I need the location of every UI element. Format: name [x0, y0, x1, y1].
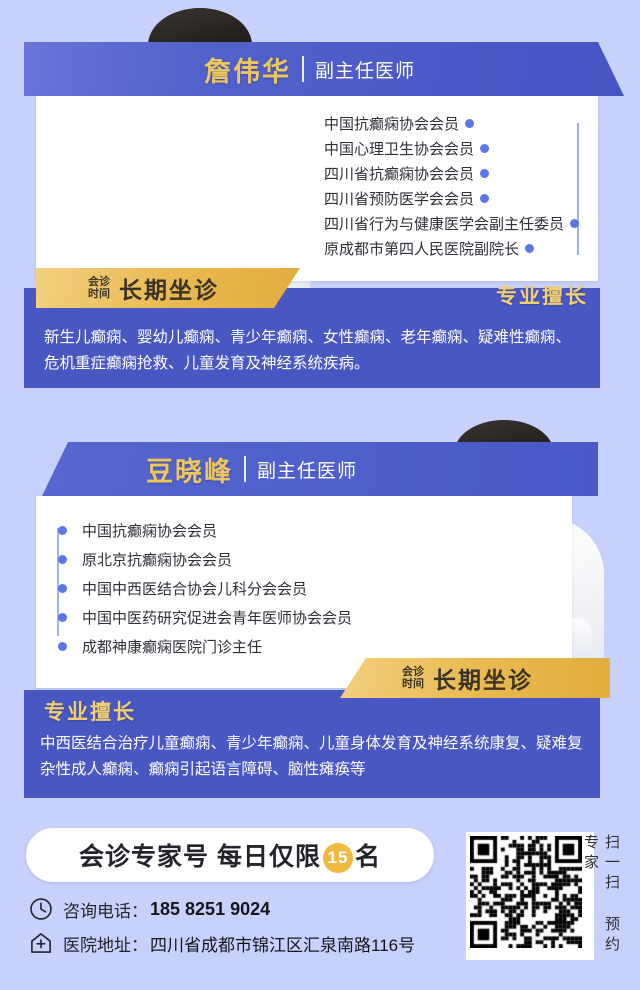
- hospital-icon: [28, 930, 54, 956]
- schedule-value: 长期坐诊: [433, 661, 533, 695]
- schedule-label: 会诊 时间: [88, 276, 110, 300]
- credential-text: 四川省行为与健康医学会副主任委员: [324, 213, 564, 234]
- credential-text: 四川省抗癫痫协会会员: [324, 163, 474, 184]
- clock-icon: [28, 896, 54, 922]
- address-label: 医院地址：: [63, 931, 148, 956]
- doctor-1-title: 副主任医师: [315, 56, 415, 83]
- credential-row: 中国抗癫痫协会会员: [52, 516, 352, 545]
- phone-row: 咨询电话： 185 8251 9024: [28, 896, 270, 922]
- qr-code[interactable]: [466, 832, 594, 960]
- poster-page: 詹伟华 副主任医师 中国抗癫痫协会会员 中国心理卫生协会会员 四川省抗癫痫协会会…: [0, 0, 640, 990]
- name-title-separator: [244, 456, 246, 482]
- credential-bullet: [52, 526, 72, 535]
- phone-label: 咨询电话：: [63, 897, 148, 922]
- credential-row: 中国心理卫生协会会员: [324, 136, 584, 161]
- promo-suffix: 名: [355, 843, 381, 871]
- credential-row: 原北京抗癫痫协会会员: [52, 545, 352, 574]
- doctor-2-name: 豆晓峰: [146, 450, 233, 489]
- schedule-label-line2: 时间: [402, 678, 424, 690]
- doctor-1-banner: 詹伟华 副主任医师: [24, 42, 624, 96]
- credential-text: 中国心理卫生协会会员: [324, 138, 474, 159]
- promo-count-badge: 15: [323, 843, 353, 873]
- phone-value[interactable]: 185 8251 9024: [150, 899, 270, 920]
- doctor-card-2: 豆晓峰 副主任医师 中国抗癫痫协会会员 原北京抗癫痫协会会员 中国中西医结合协会…: [0, 418, 640, 810]
- credential-bullet: [564, 219, 584, 228]
- doctor-2-schedule-badge: 会诊 时间 长期坐诊: [340, 658, 610, 698]
- credential-text: 原成都市第四人民医院副院长: [324, 238, 519, 259]
- credential-row: 原成都市第四人民医院副院长: [324, 236, 584, 261]
- doctor-1-schedule-badge: 会诊 时间 长期坐诊: [36, 268, 300, 308]
- credential-row: 四川省行为与健康医学会副主任委员: [324, 211, 584, 236]
- doctor-2-banner: 豆晓峰 副主任医师: [42, 442, 598, 496]
- credential-row: 中国抗癫痫协会会员: [324, 111, 584, 136]
- schedule-label-line1: 会诊: [402, 666, 424, 678]
- schedule-value: 长期坐诊: [119, 271, 219, 305]
- credential-row: 四川省预防医学会会员: [324, 186, 584, 211]
- doctor-1-name: 詹伟华: [204, 50, 291, 89]
- credential-bullet: [474, 144, 494, 153]
- credential-row: 四川省抗癫痫协会会员: [324, 161, 584, 186]
- doctor-2-title: 副主任医师: [257, 456, 357, 483]
- credential-row: 中国中医药研究促进会青年医师协会会员: [52, 603, 352, 632]
- promo-prefix: 会诊专家号 每日仅限: [79, 843, 321, 871]
- name-title-separator: [302, 56, 304, 82]
- schedule-label-line2: 时间: [88, 288, 110, 300]
- doctor-1-credentials-card: 中国抗癫痫协会会员 中国心理卫生协会会员 四川省抗癫痫协会会员 四川省预防医学会…: [36, 96, 598, 281]
- doctor-2-specialty-text: 中西医结合治疗儿童癫痫、青少年癫痫、儿童身体发育及神经系统康复、疑难复杂性成人癫…: [40, 730, 588, 782]
- credential-text: 中国抗癫痫协会会员: [82, 520, 217, 541]
- credential-bullet: [52, 584, 72, 593]
- credential-row: 中国中西医结合协会儿科分会会员: [52, 574, 352, 603]
- credential-bullet: [519, 244, 539, 253]
- credential-text: 四川省预防医学会会员: [324, 188, 474, 209]
- schedule-label: 会诊 时间: [402, 666, 424, 690]
- qr-side-text: 扫一扫 预约专家: [596, 834, 622, 974]
- credential-bullet: [474, 194, 494, 203]
- credential-bullet: [52, 642, 72, 651]
- promo-banner[interactable]: 会诊专家号 每日仅限15名: [26, 828, 434, 882]
- credential-bullet: [52, 555, 72, 564]
- doctor-2-credentials-list: 中国抗癫痫协会会员 原北京抗癫痫协会会员 中国中西医结合协会儿科分会会员 中国中…: [52, 516, 352, 661]
- address-row: 医院地址： 四川省成都市锦江区汇泉南路116号: [28, 930, 415, 956]
- promo-text: 会诊专家号 每日仅限15名: [79, 837, 381, 873]
- doctor-2-specialty-heading: 专业擅长: [44, 696, 136, 726]
- credential-text: 中国中西医结合协会儿科分会会员: [82, 578, 307, 599]
- credential-row: 成都神康癫痫医院门诊主任: [52, 632, 352, 661]
- contact-section: 会诊专家号 每日仅限15名 咨询电话： 185 8251 9024 医院地址： …: [0, 812, 640, 990]
- credential-rail: [577, 123, 579, 255]
- credential-text: 原北京抗癫痫协会会员: [82, 549, 232, 570]
- address-value: 四川省成都市锦江区汇泉南路116号: [150, 931, 415, 956]
- schedule-label-line1: 会诊: [88, 276, 110, 288]
- credential-text: 中国抗癫痫协会会员: [324, 113, 459, 134]
- doctor-1-credentials-list: 中国抗癫痫协会会员 中国心理卫生协会会员 四川省抗癫痫协会会员 四川省预防医学会…: [324, 111, 584, 261]
- credential-bullet: [52, 613, 72, 622]
- doctor-card-1: 詹伟华 副主任医师 中国抗癫痫协会会员 中国心理卫生协会会员 四川省抗癫痫协会会…: [0, 0, 640, 400]
- credential-text: 成都神康癫痫医院门诊主任: [82, 636, 262, 657]
- credential-bullet: [459, 119, 479, 128]
- credential-text: 中国中医药研究促进会青年医师协会会员: [82, 607, 352, 628]
- credential-bullet: [474, 169, 494, 178]
- doctor-1-specialty-text: 新生儿癫痫、婴幼儿癫痫、青少年癫痫、女性癫痫、老年癫痫、疑难性癫痫、危机重症癫痫…: [44, 324, 584, 376]
